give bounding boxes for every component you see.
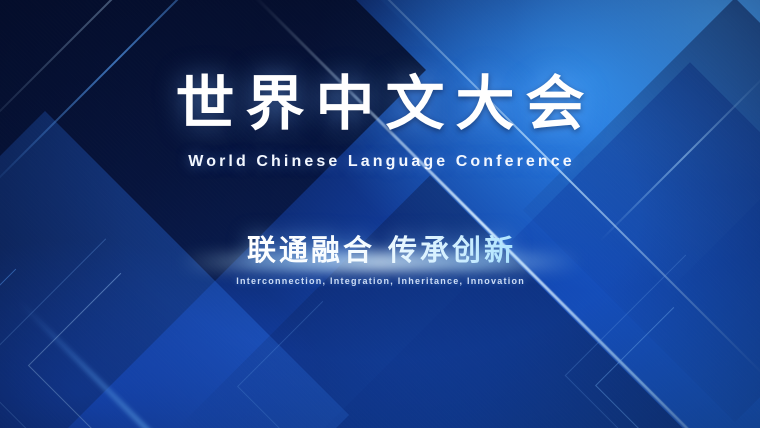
tagline-block: 联通融合 传承创新 Interconnection, Integration, … xyxy=(235,227,525,286)
tagline-english: Interconnection, Integration, Inheritanc… xyxy=(235,276,525,286)
page-title: 世界中文大会 xyxy=(164,74,595,133)
poster-content: 世界中文大会 World Chinese Language Conference… xyxy=(0,0,760,428)
conference-poster: 世界中文大会 World Chinese Language Conference… xyxy=(0,0,760,428)
page-subtitle: World Chinese Language Conference xyxy=(185,153,575,171)
tagline-chinese: 联通融合 传承创新 xyxy=(244,227,516,269)
